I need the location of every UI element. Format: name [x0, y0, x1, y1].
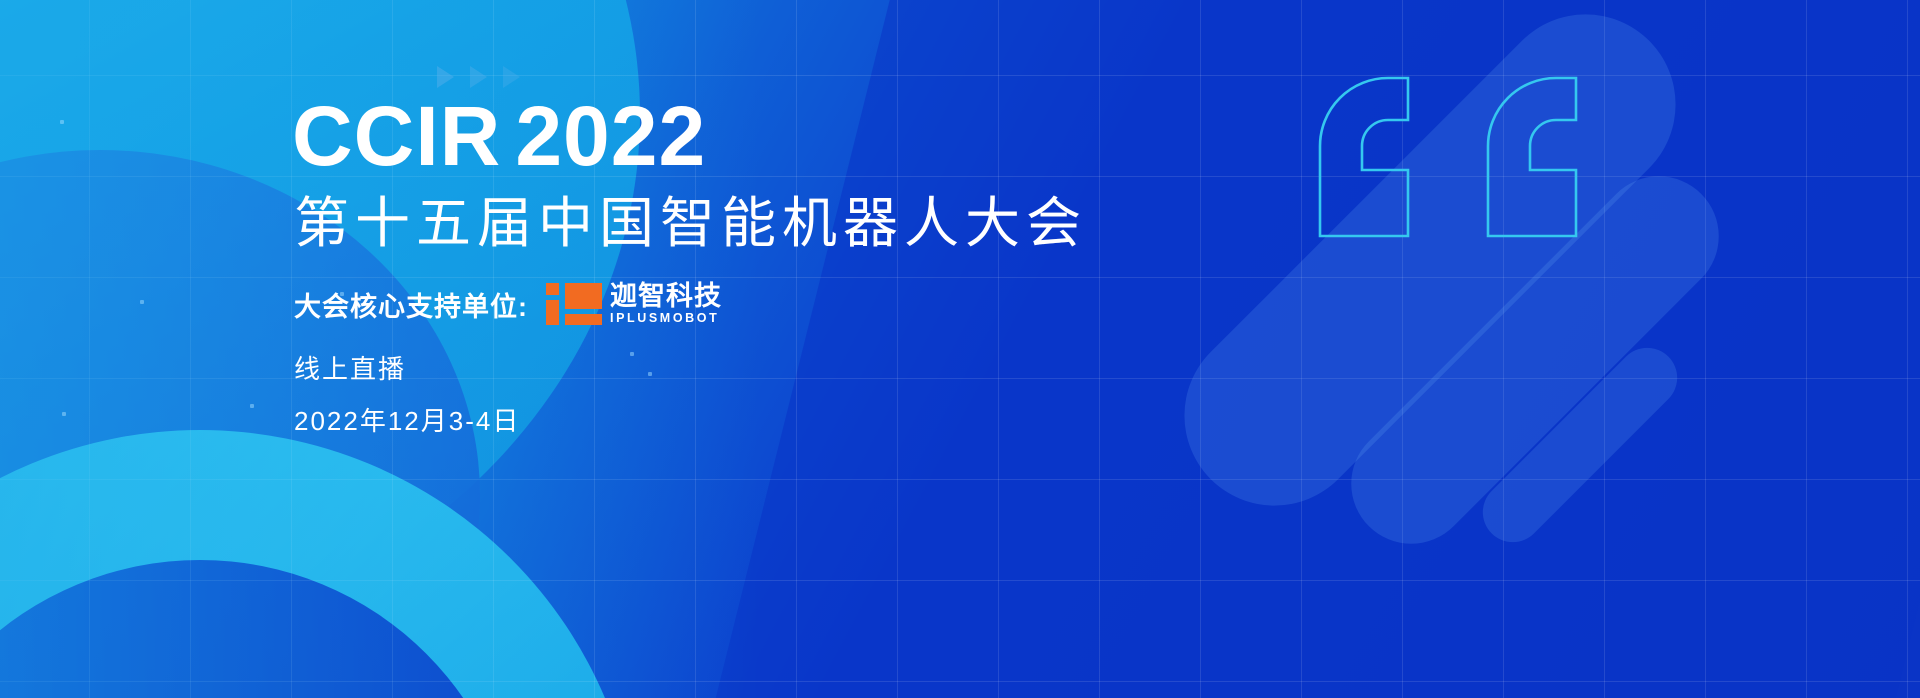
title-year: 2022	[515, 89, 706, 183]
event-date: 2022年12月3-4日	[294, 408, 520, 434]
sparkle-dot	[62, 412, 66, 416]
sponsor-row: 大会核心支持单位: 迦智科技 IPLUSMOBOT	[294, 282, 722, 326]
title-acronym: CCIR	[292, 89, 501, 183]
page-title: CCIR2022	[292, 94, 706, 178]
event-mode: 线上直播	[294, 356, 520, 382]
banner-content: CCIR2022 第十五届中国智能机器人大会 大会核心支持单位: 迦智科技 IP…	[292, 0, 1392, 698]
sponsor-name-cn: 迦智科技	[610, 282, 722, 310]
logo-mark-bar	[546, 300, 559, 325]
iplusmobot-logo-mark-icon	[546, 283, 602, 325]
sponsor-logo: 迦智科技 IPLUSMOBOT	[546, 282, 722, 326]
logo-mark-block-small	[565, 314, 602, 325]
sponsor-logo-text: 迦智科技 IPLUSMOBOT	[610, 282, 722, 326]
logo-mark-block-large	[565, 283, 602, 309]
sponsor-name-en: IPLUSMOBOT	[610, 312, 722, 326]
page-subtitle: 第十五届中国智能机器人大会	[294, 196, 1087, 251]
sponsor-label: 大会核心支持单位:	[294, 285, 528, 324]
event-info: 线上直播 2022年12月3-4日	[294, 356, 520, 460]
sparkle-dot	[250, 404, 254, 408]
ccir-2022-conference-banner: CCIR2022 第十五届中国智能机器人大会 大会核心支持单位: 迦智科技 IP…	[0, 0, 1920, 698]
sparkle-dot	[140, 300, 144, 304]
sparkle-dot	[60, 120, 64, 124]
logo-mark-dot	[546, 283, 559, 295]
